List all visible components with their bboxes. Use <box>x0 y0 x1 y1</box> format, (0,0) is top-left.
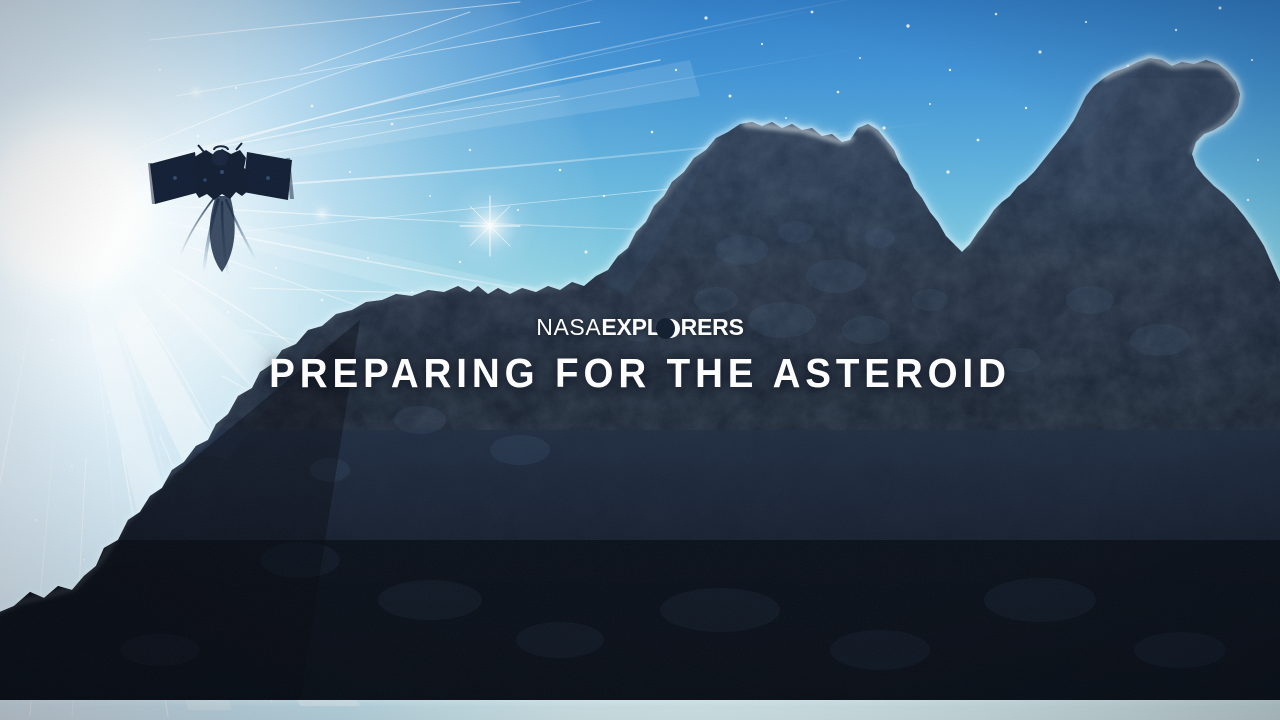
asteroid-silhouette <box>0 0 1280 720</box>
title-card-stage: NASAEXPLRERS PREPARING FOR THE ASTEROID <box>0 0 1280 720</box>
